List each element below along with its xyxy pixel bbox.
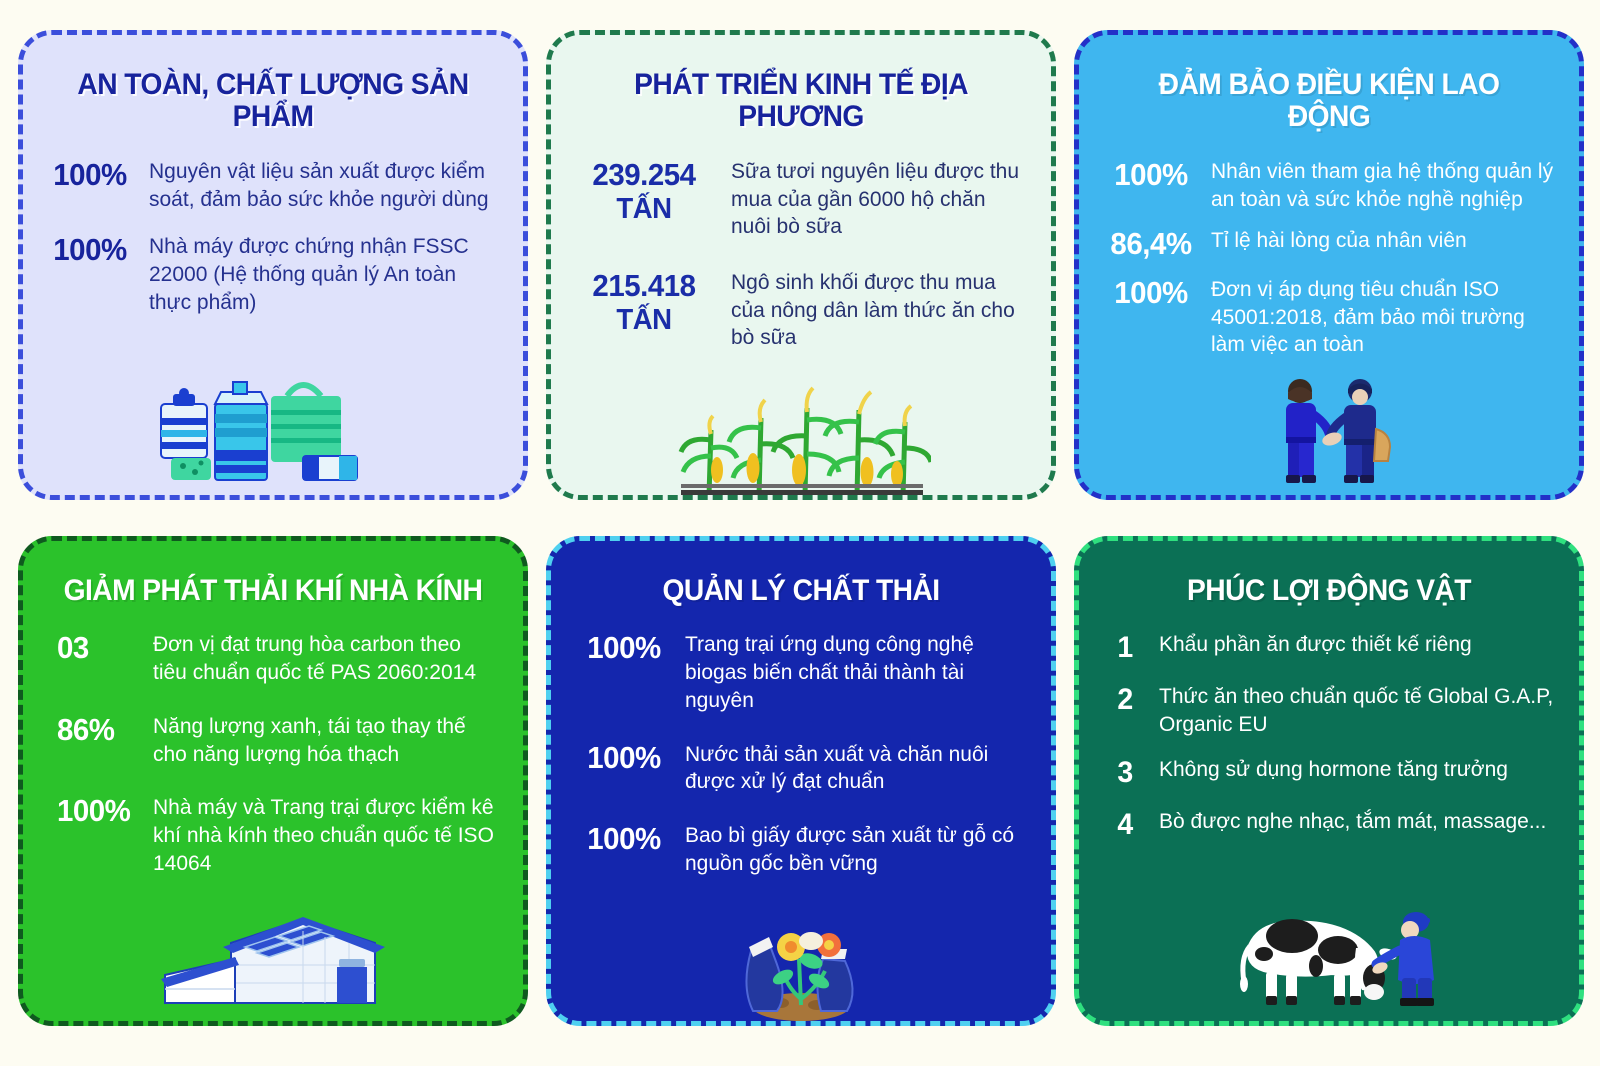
stat-value: 100% <box>49 158 131 193</box>
stat-number: 215.418 <box>592 268 695 303</box>
dairy-cow-farmer-icon <box>1103 889 1555 1007</box>
stat-description: Nhà máy được chứng nhận FSSC 22000 (Hệ t… <box>133 233 499 316</box>
milk-products-icon <box>47 363 499 481</box>
stat-value: 215.418 TẤN <box>578 269 709 336</box>
stat-description: Bao bì giấy được sản xuất từ gỗ có nguồn… <box>673 822 1027 877</box>
stat-description: Bò được nghe nhạc, tắm mát, massage... <box>1145 808 1555 836</box>
stat-value: 4 <box>1104 808 1144 842</box>
stat-row: 239.254 TẤN Sữa tươi nguyên liệu được th… <box>575 158 1027 241</box>
stat-row: 215.418 TẤN Ngô sinh khối được thu mua c… <box>575 269 1027 352</box>
stat-description: Thức ăn theo chuẩn quốc tế Global G.A.P,… <box>1145 683 1555 738</box>
card-dam-bao-dieu-kien-lao-dong: ĐẢM BẢO ĐIỀU KIỆN LAO ĐỘNG 100% Nhân viê… <box>1074 30 1584 500</box>
infographic-board: AN TOÀN, CHẤT LƯỢNG SẢN PHẨM 100% Nguyên… <box>0 0 1600 1066</box>
card-phuc-loi-dong-vat: PHÚC LỢI ĐỘNG VẬT 1 Khẩu phần ăn được th… <box>1074 536 1584 1026</box>
stat-row: 86,4% Tỉ lệ hài lòng của nhân viên <box>1103 227 1555 262</box>
stat-row: 2 Thức ăn theo chuẩn quốc tế Global G.A.… <box>1103 683 1555 738</box>
stat-description: Không sử dụng hormone tăng trưởng <box>1145 756 1555 784</box>
card-title: ĐẢM BẢO ĐIỀU KIỆN LAO ĐỘNG <box>1117 69 1542 134</box>
stat-number: 239.254 <box>592 157 695 192</box>
stat-description: Sữa tươi nguyên liệu được thu mua của gầ… <box>719 158 1027 241</box>
stat-list: 100% Trang trại ứng dụng công nghệ bioga… <box>575 631 1027 903</box>
stat-description: Ngô sinh khối được thu mua của nông dân … <box>719 269 1027 352</box>
stat-description: Nguyên vật liệu sản xuất được kiểm soát,… <box>133 158 499 213</box>
stat-list: 100% Nhân viên tham gia hệ thống quản lý… <box>1103 158 1555 373</box>
stat-value: 100% <box>49 233 131 268</box>
card-title: AN TOÀN, CHẤT LƯỢNG SẢN PHẨM <box>61 69 486 134</box>
stat-value: 100% <box>49 794 138 829</box>
stat-description: Nhà máy và Trang trại được kiểm kê khí n… <box>141 794 499 877</box>
stat-value: 86,4% <box>1105 227 1196 262</box>
stat-row: 4 Bò được nghe nhạc, tắm mát, massage... <box>1103 808 1555 842</box>
stat-value: 100% <box>577 741 670 776</box>
stat-row: 100% Nhà máy và Trang trại được kiểm kê … <box>47 794 499 877</box>
stat-value: 2 <box>1104 683 1144 717</box>
card-title: PHÚC LỢI ĐỘNG VẬT <box>1117 575 1542 607</box>
stat-description: Trang trại ứng dụng công nghệ biogas biế… <box>673 631 1027 714</box>
stat-row: 100% Nhà máy được chứng nhận FSSC 22000 … <box>47 233 499 316</box>
stat-value: 100% <box>1105 158 1196 193</box>
stat-description: Đơn vị đạt trung hòa carbon theo tiêu ch… <box>141 631 499 686</box>
stat-list: 239.254 TẤN Sữa tươi nguyên liệu được th… <box>575 158 1027 380</box>
plants-from-waste-icon <box>575 903 1027 1021</box>
stat-value: 03 <box>49 631 138 666</box>
stat-value: 86% <box>49 713 138 748</box>
stat-row: 100% Bao bì giấy được sản xuất từ gỗ có … <box>575 822 1027 877</box>
card-giam-phat-thai-khi-nha-kinh: GIẢM PHÁT THẢI KHÍ NHÀ KÍNH 03 Đơn vị đạ… <box>18 536 528 1026</box>
stat-description: Năng lượng xanh, tái tạo thay thế cho nă… <box>141 713 499 768</box>
stat-description: Nước thải sản xuất và chăn nuôi được xử … <box>673 741 1027 796</box>
stat-value: 100% <box>577 822 670 857</box>
stat-list: 100% Nguyên vật liệu sản xuất được kiểm … <box>47 158 499 337</box>
stat-value: 100% <box>1105 276 1196 311</box>
stat-description: Nhân viên tham gia hệ thống quản lý an t… <box>1199 158 1555 213</box>
stat-description: Đơn vị áp dụng tiêu chuẩn ISO 45001:2018… <box>1199 276 1555 359</box>
card-phat-trien-kinh-te-dia-phuong: PHÁT TRIỂN KINH TẾ ĐỊA PHƯƠNG 239.254 TẤ… <box>546 30 1056 500</box>
stat-value: 1 <box>1104 631 1144 665</box>
stat-row: 100% Nguyên vật liệu sản xuất được kiểm … <box>47 158 499 213</box>
corn-field-icon <box>575 380 1027 498</box>
card-title: PHÁT TRIỂN KINH TẾ ĐỊA PHƯƠNG <box>589 69 1014 134</box>
stat-description: Khẩu phần ăn được thiết kế riêng <box>1145 631 1555 659</box>
handshake-workers-icon <box>1103 373 1555 488</box>
stat-row: 86% Năng lượng xanh, tái tạo thay thế ch… <box>47 713 499 768</box>
stat-unit: TẤN <box>578 304 709 336</box>
card-title: QUẢN LÝ CHẤT THẢI <box>589 575 1014 607</box>
stat-list: 03 Đơn vị đạt trung hòa carbon theo tiêu… <box>47 631 499 903</box>
stat-value: 239.254 TẤN <box>578 158 709 225</box>
card-title: GIẢM PHÁT THẢI KHÍ NHÀ KÍNH <box>61 575 486 607</box>
stat-row: 1 Khẩu phần ăn được thiết kế riêng <box>1103 631 1555 665</box>
stat-value: 100% <box>577 631 670 666</box>
stat-row: 03 Đơn vị đạt trung hòa carbon theo tiêu… <box>47 631 499 686</box>
stat-row: 100% Trang trại ứng dụng công nghệ bioga… <box>575 631 1027 714</box>
stat-value: 3 <box>1104 756 1144 790</box>
stat-unit: TẤN <box>578 193 709 225</box>
stat-row: 100% Đơn vị áp dụng tiêu chuẩn ISO 45001… <box>1103 276 1555 359</box>
stat-row: 100% Nước thải sản xuất và chăn nuôi đượ… <box>575 741 1027 796</box>
stat-row: 3 Không sử dụng hormone tăng trưởng <box>1103 756 1555 790</box>
stat-list: 1 Khẩu phần ăn được thiết kế riêng 2 Thứ… <box>1103 631 1555 859</box>
solar-factory-icon <box>47 903 499 1013</box>
card-an-toan-chat-luong-san-pham: AN TOÀN, CHẤT LƯỢNG SẢN PHẨM 100% Nguyên… <box>18 30 528 500</box>
stat-row: 100% Nhân viên tham gia hệ thống quản lý… <box>1103 158 1555 213</box>
stat-description: Tỉ lệ hài lòng của nhân viên <box>1199 227 1555 255</box>
card-quan-ly-chat-thai: QUẢN LÝ CHẤT THẢI 100% Trang trại ứng dụ… <box>546 536 1056 1026</box>
